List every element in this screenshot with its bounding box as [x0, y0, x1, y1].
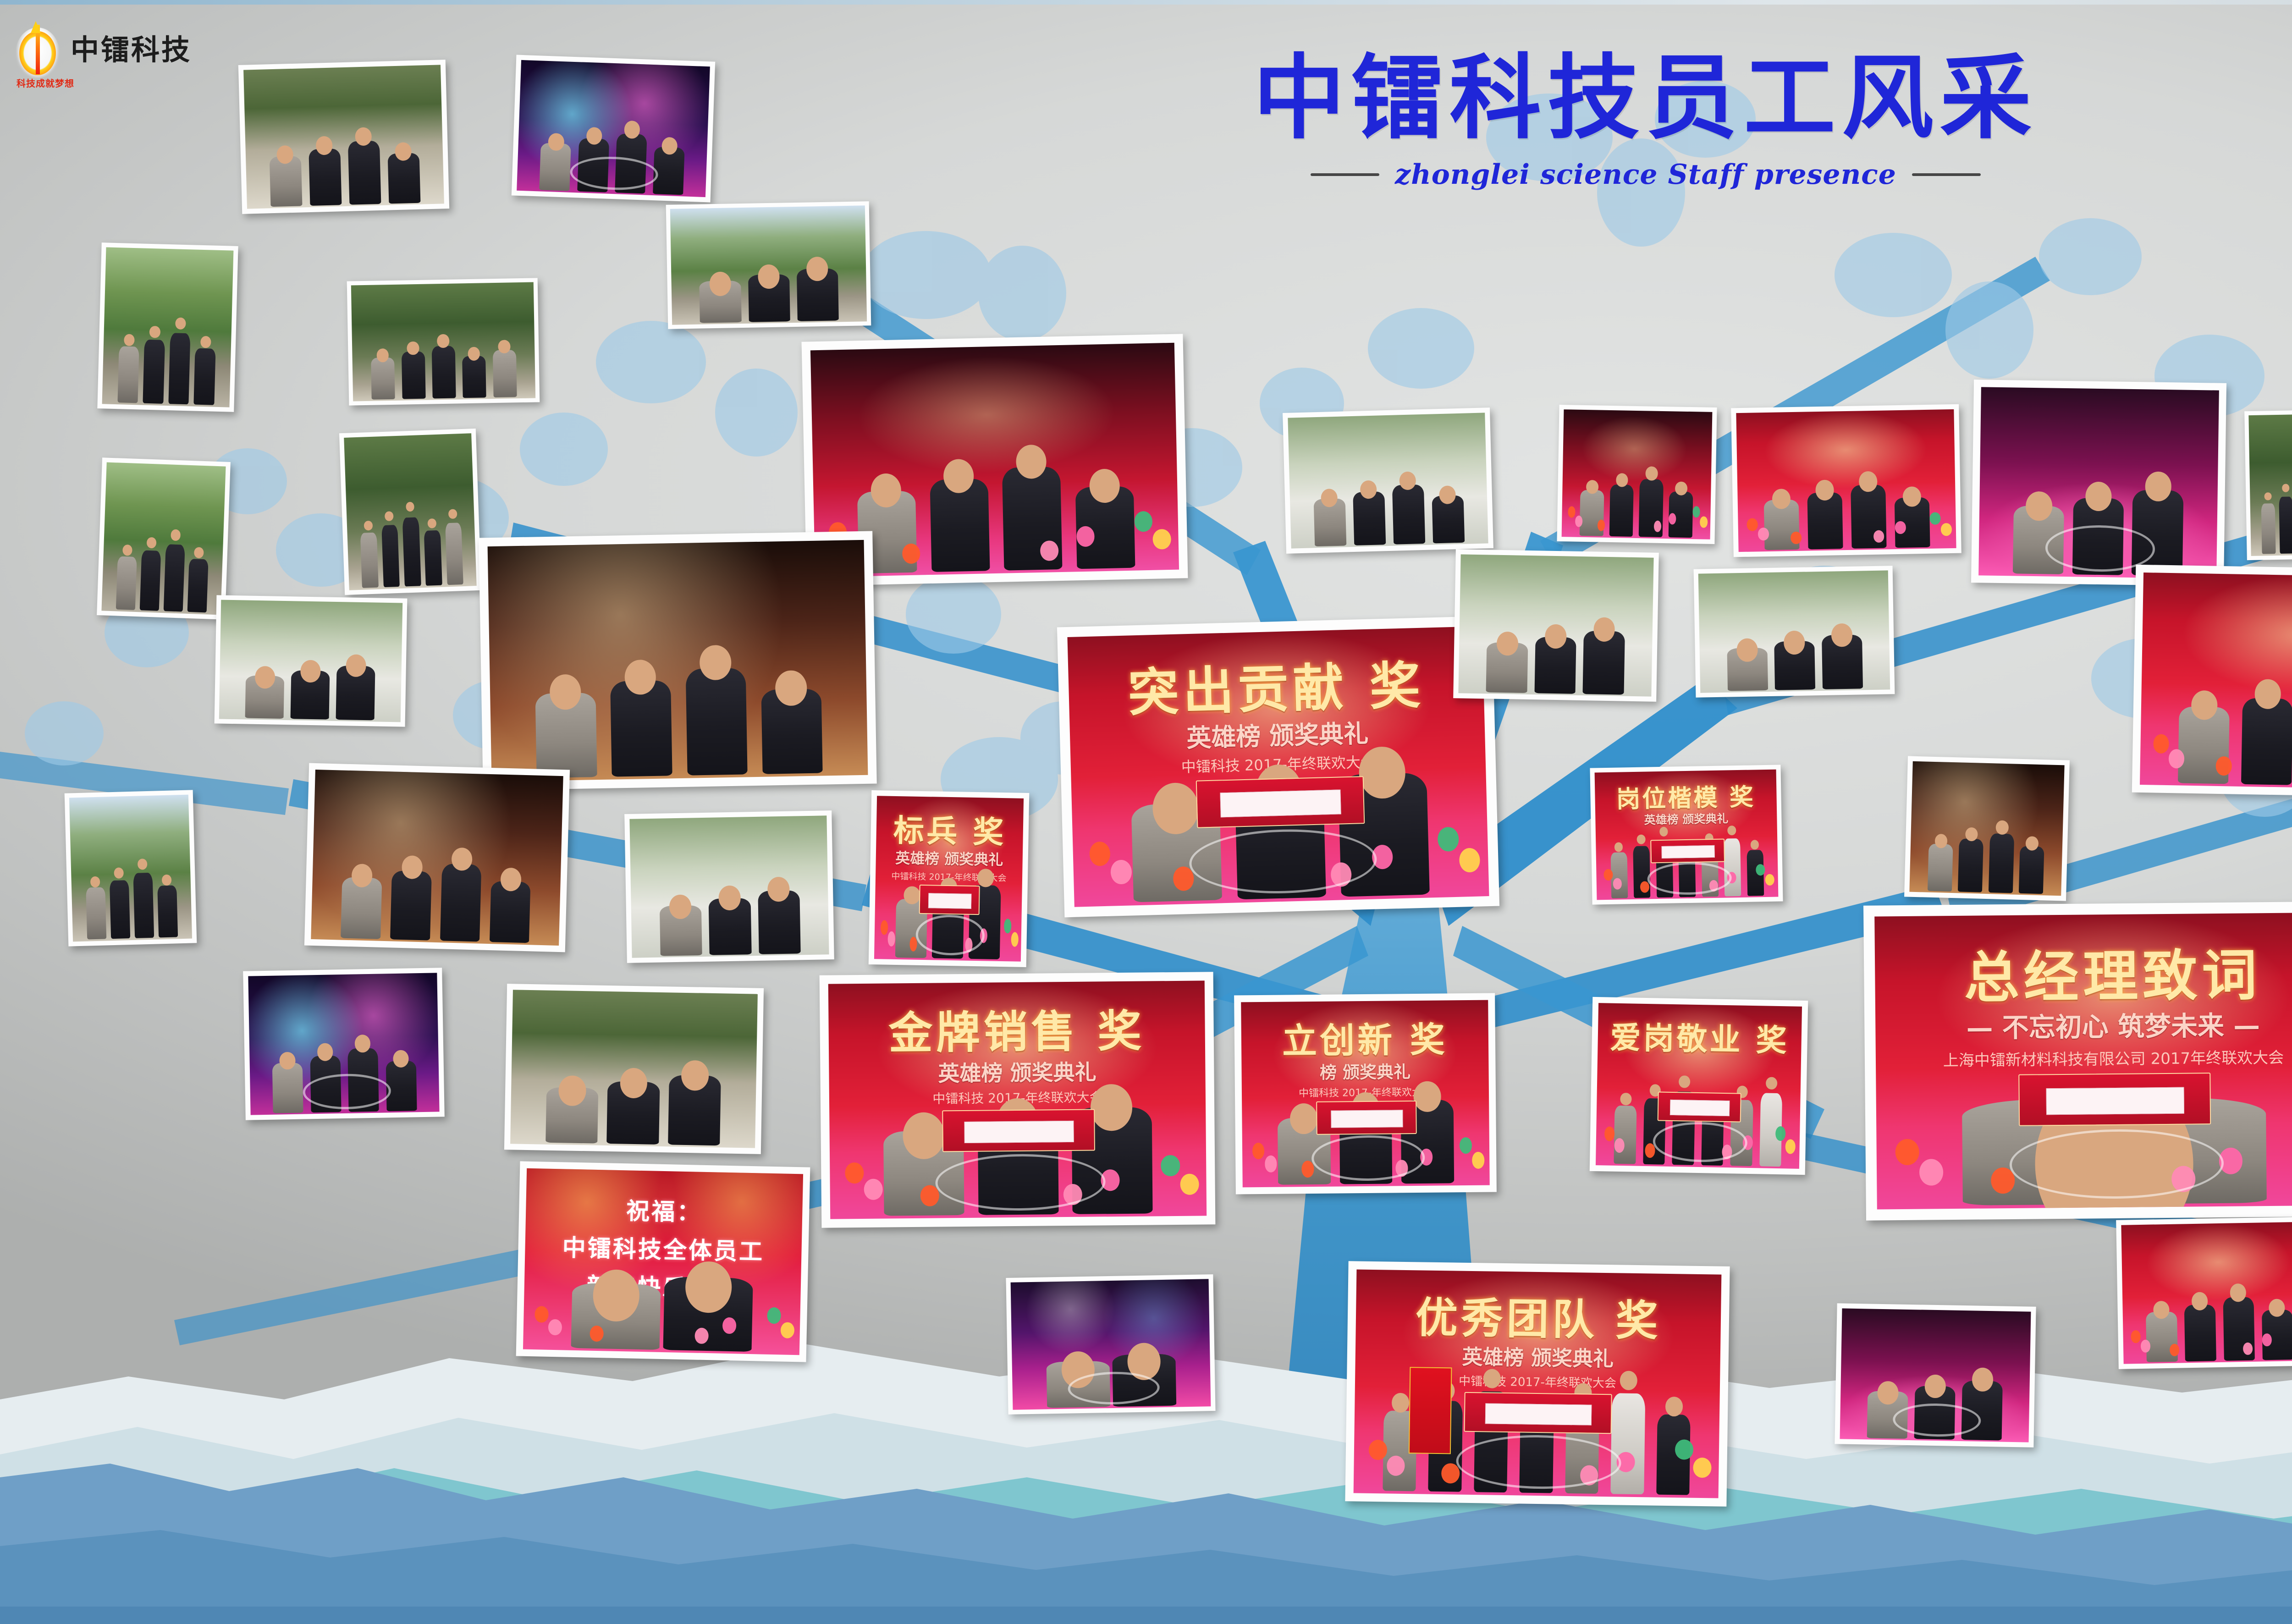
- photo-image: [219, 600, 402, 722]
- award-title: 标兵 奖: [876, 806, 1024, 853]
- photo-frame: [215, 595, 408, 727]
- photo-frame: [2116, 1217, 2292, 1369]
- photo-image: [510, 990, 758, 1148]
- photo-image: [488, 540, 868, 782]
- brand-slogan: 科技成就梦想: [17, 76, 74, 89]
- poster-canvas: 科技成就梦想 中镭科技 中镭科技员工风采 zhonglei science St…: [0, 0, 2292, 1624]
- photo-frame: [65, 790, 197, 946]
- brand-logo: 科技成就梦想 中镭科技: [13, 18, 192, 82]
- photo-image: [670, 205, 867, 325]
- photo-frame: [1006, 1274, 1215, 1415]
- photo-image: 立创新 奖榜 颁奖典礼中镭科技 2017-年终联欢大会: [1241, 1000, 1490, 1188]
- photo-image: [243, 65, 444, 209]
- photo-image: 爱岗敬业 奖: [1596, 1003, 1802, 1169]
- photo-image: [2140, 573, 2292, 790]
- award-cheque: [1464, 1392, 1612, 1434]
- photo-frame: 优秀团队 奖英雄榜 颁奖典礼中镭科技 2017-年终联欢大会: [1345, 1261, 1730, 1507]
- zhonglei-arrow-ring-icon: 科技成就梦想: [13, 18, 62, 82]
- photo-image: [1698, 570, 1890, 693]
- award-cheque: [1196, 776, 1365, 828]
- photo-frame: [1453, 549, 1659, 702]
- photo-image: [1011, 1279, 1211, 1409]
- photo-frame: [2132, 565, 2292, 798]
- photo-frame: [347, 278, 540, 405]
- photo-frame: [479, 531, 876, 791]
- photo-frame: 爱岗敬业 奖: [1590, 997, 1808, 1175]
- photo-frame: [339, 429, 481, 595]
- photo-image: 金牌销售 奖英雄榜 颁奖典礼中镭科技 2017-年终联欢大会: [828, 980, 1207, 1219]
- award-title: 优秀团队 奖: [1355, 1283, 1721, 1349]
- photo-image: 岗位楷模 奖英雄榜 颁奖典礼: [1595, 770, 1779, 900]
- photo-frame: [1283, 407, 1493, 554]
- photo-image: [1736, 409, 1956, 552]
- photo-image: 标兵 奖英雄榜 颁奖典礼中镭科技 2017-年终联欢大会: [874, 796, 1024, 962]
- photo-frame: [504, 984, 764, 1154]
- award-title: 总经理致词: [1875, 930, 2292, 1014]
- photo-frame: [97, 457, 231, 620]
- photo-image: [2248, 413, 2292, 556]
- photo-frame: [512, 55, 715, 203]
- photo-frame: [97, 242, 238, 412]
- photo-frame: 金牌销售 奖英雄榜 颁奖典礼中镭科技 2017-年终联欢大会: [820, 972, 1216, 1228]
- photo-frame: 总经理致词— 不忘初心 筑梦未来 —上海中镭新材料科技有限公司 2017年终联欢…: [1863, 901, 2292, 1220]
- photo-frame: 祝福：中镭科技全体员工新年快乐！！: [516, 1161, 810, 1362]
- photo-image: [1978, 387, 2219, 578]
- photo-image: [248, 973, 439, 1115]
- photo-image: [2121, 1222, 2292, 1364]
- photo-frame: [666, 201, 871, 329]
- photo-image: 总经理致词— 不忘初心 筑梦未来 —上海中镭新材料科技有限公司 2017年终联欢…: [1874, 912, 2292, 1209]
- photo-image: [344, 433, 476, 590]
- award-cheque: [919, 885, 980, 915]
- photo-frame: [238, 60, 449, 214]
- award-cheque: [942, 1109, 1095, 1152]
- photo-frame: [304, 763, 570, 952]
- award-cheque: [1316, 1101, 1417, 1135]
- rule-left: [1311, 173, 1379, 176]
- photo-frame: [1694, 566, 1895, 698]
- page-title: 中镭科技员工风采: [1073, 50, 2219, 147]
- photo-image: [1562, 409, 1713, 539]
- blessing-text: 祝福：: [526, 1190, 803, 1230]
- photo-frame: 岗位楷模 奖英雄榜 颁奖典礼: [1590, 765, 1783, 904]
- award-title: 爱岗敬业 奖: [1598, 1013, 1802, 1061]
- brand-name: 中镭科技: [71, 36, 192, 64]
- photo-frame: 立创新 奖榜 颁奖典礼中镭科技 2017-年终联欢大会: [1234, 993, 1497, 1195]
- photo-image: [351, 282, 535, 402]
- photo-image: [69, 795, 192, 942]
- photo-image: [1840, 1308, 2031, 1442]
- photo-image: [1288, 413, 1488, 548]
- photo-image: [102, 247, 234, 407]
- award-cheque: [2018, 1073, 2211, 1126]
- team-pennant: [1409, 1367, 1452, 1454]
- photo-frame: [1971, 380, 2226, 586]
- photo-image: 优秀团队 奖英雄榜 颁奖典礼中镭科技 2017-年终联欢大会: [1354, 1269, 1722, 1498]
- top-trim: [0, 0, 2292, 5]
- page-title-block: 中镭科技员工风采 zhonglei science Staff presence: [1073, 50, 2219, 191]
- photo-frame: [1731, 404, 1961, 557]
- award-cheque: [1650, 838, 1725, 863]
- photo-frame: [2244, 409, 2292, 560]
- photo-image: [311, 770, 563, 946]
- photo-image: [101, 462, 226, 615]
- rule-right: [1912, 173, 1981, 176]
- photo-image: [1458, 554, 1653, 696]
- photo-image: 突出贡献 奖英雄榜 颁奖典礼中镭科技 2017-年终联欢大会: [1067, 626, 1489, 907]
- photo-frame: 突出贡献 奖英雄榜 颁奖典礼中镭科技 2017-年终联欢大会: [1057, 616, 1499, 918]
- page-subtitle-row: zhonglei science Staff presence: [1073, 159, 2219, 191]
- award-title: 金牌销售 奖: [828, 995, 1205, 1062]
- award-cheque: [1658, 1091, 1741, 1122]
- award-title: 立创新 奖: [1241, 1011, 1488, 1064]
- page-subtitle: zhonglei science Staff presence: [1395, 159, 1896, 191]
- photo-image: [517, 60, 710, 197]
- photo-frame: [1835, 1303, 2036, 1448]
- photo-image: [1909, 761, 2064, 896]
- photo-frame: [243, 968, 445, 1120]
- photo-image: [629, 815, 829, 958]
- photo-image: 祝福：中镭科技全体员工新年快乐！！: [523, 1168, 803, 1355]
- photo-frame: [1557, 405, 1717, 544]
- photo-frame: [1904, 756, 2070, 901]
- photo-frame: [624, 810, 834, 963]
- photo-frame: 标兵 奖英雄榜 颁奖典礼中镭科技 2017-年终联欢大会: [869, 790, 1030, 967]
